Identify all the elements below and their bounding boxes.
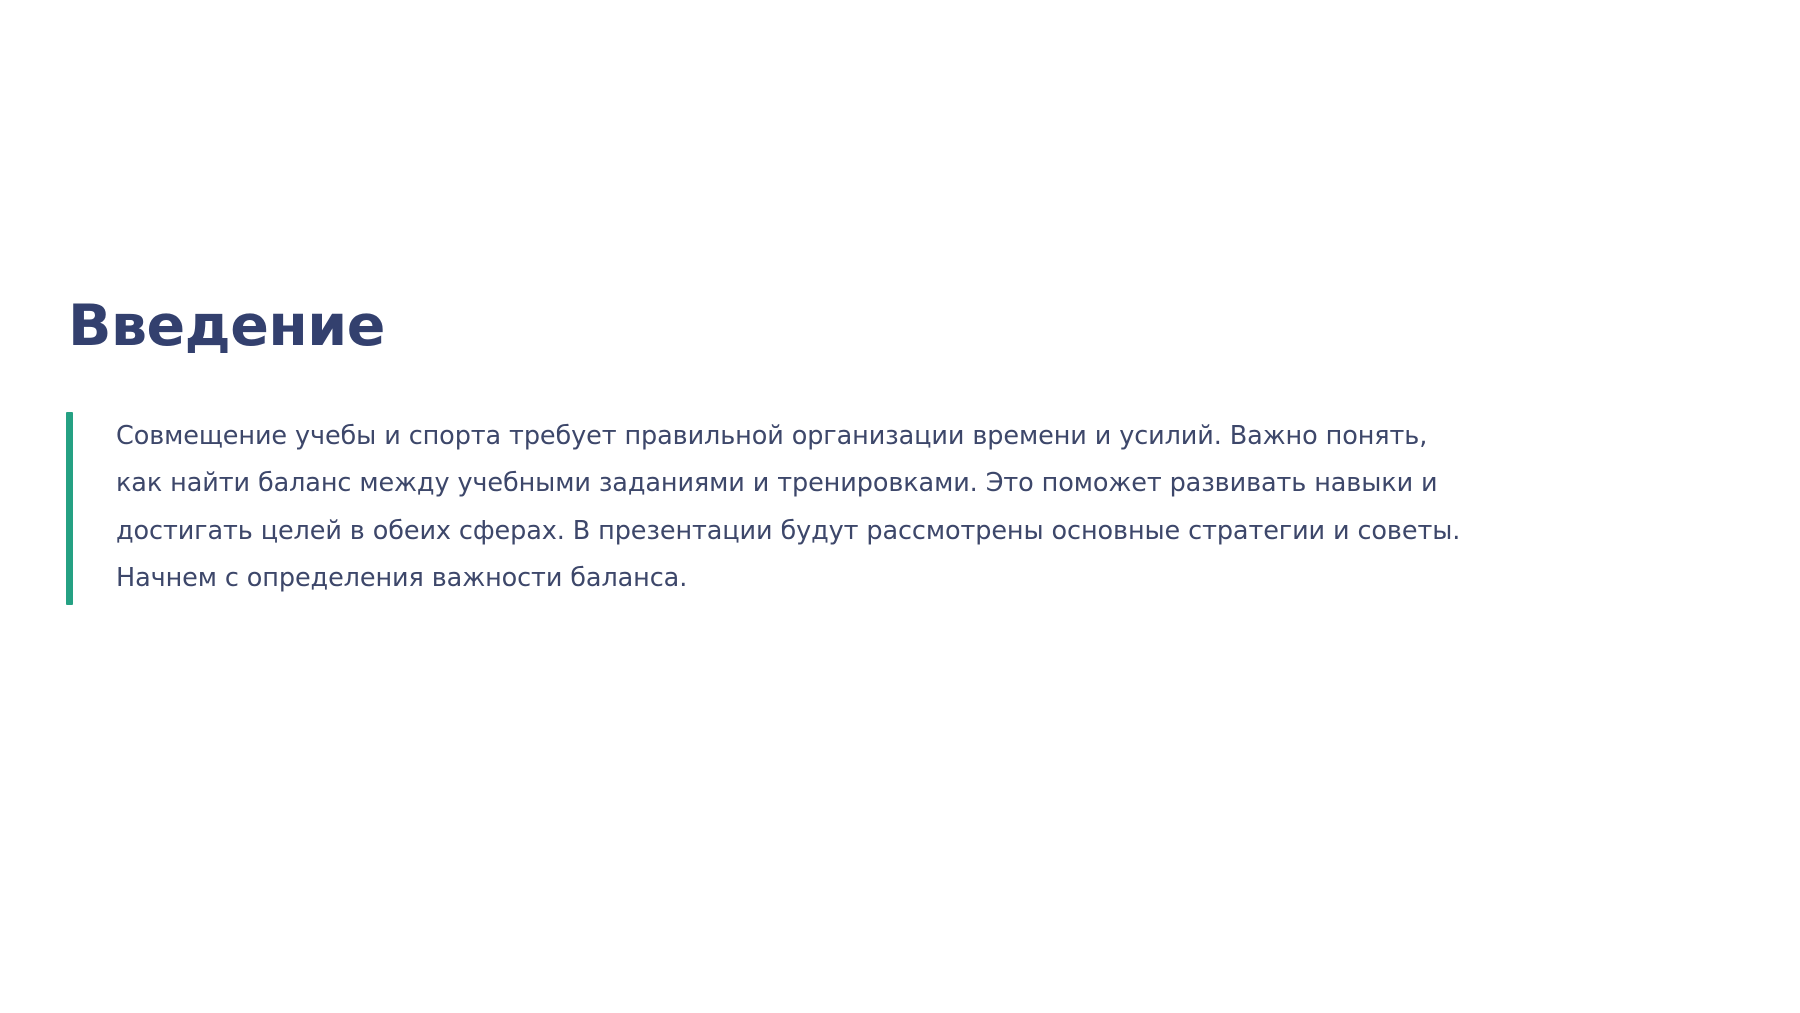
slide-canvas: Введение Совмещение учебы и спорта требу… <box>0 0 1800 1013</box>
body-paragraph: Совмещение учебы и спорта требует правил… <box>116 412 1571 605</box>
body-line: как найти баланс между учебными заданиям… <box>116 460 1571 508</box>
body-line: достигать целей в обеих сферах. В презен… <box>116 508 1571 556</box>
body-block: Совмещение учебы и спорта требует правил… <box>66 412 1686 605</box>
page-title: Введение <box>68 296 1686 358</box>
body-line: Начнем с определения важности баланса. <box>116 555 1571 603</box>
accent-bar <box>66 412 73 605</box>
body-line: Совмещение учебы и спорта требует правил… <box>116 413 1571 461</box>
slide-content: Введение Совмещение учебы и спорта требу… <box>66 296 1686 605</box>
